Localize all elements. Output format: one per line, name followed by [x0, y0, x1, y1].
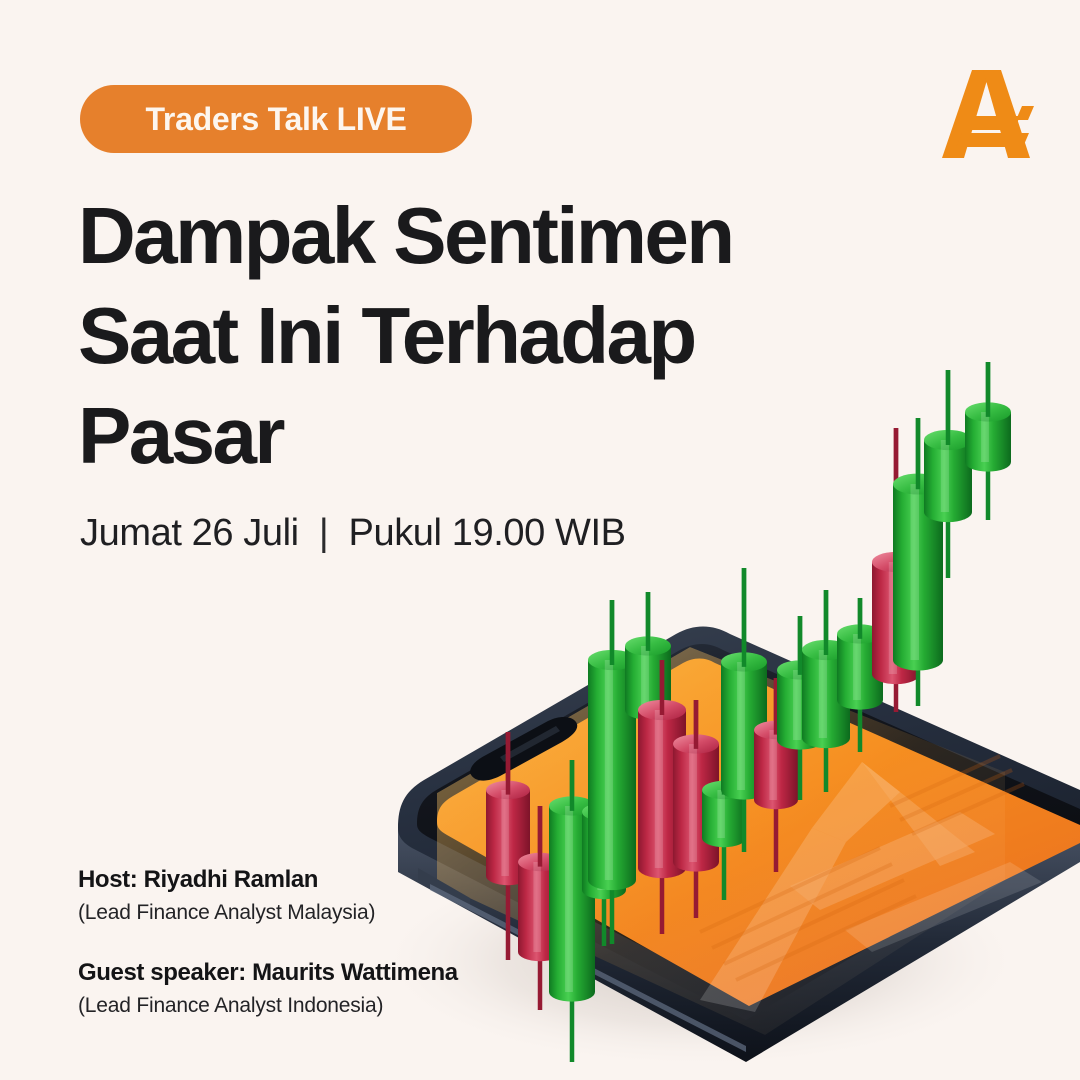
- candle-cap: [837, 624, 883, 643]
- candle-cap: [893, 474, 943, 495]
- headline-line-3: Pasar: [78, 396, 818, 476]
- candle-body: [638, 710, 686, 878]
- candlestick: [754, 678, 798, 872]
- candle-cap: [754, 721, 798, 739]
- candlestick: [777, 616, 823, 800]
- candlestick: [721, 568, 767, 852]
- candle-body: [924, 440, 972, 522]
- candlestick: [893, 418, 943, 706]
- candle-body: [754, 730, 798, 809]
- candle-highlight: [819, 650, 827, 738]
- candle-cap: [965, 402, 1011, 421]
- candle-cap: [549, 796, 595, 815]
- candle-highlight: [737, 662, 745, 790]
- host-role: (Lead Finance Analyst Malaysia): [78, 901, 548, 925]
- candle-cap: [638, 700, 686, 720]
- phone-earpiece: [500, 726, 560, 762]
- candle-body: [588, 660, 636, 890]
- event-time: Pukul 19.00 WIB: [349, 512, 626, 554]
- candle-highlight: [641, 646, 649, 710]
- candlestick: [582, 752, 626, 946]
- speakers-block: Host: Riyadhi Ramlan (Lead Finance Analy…: [78, 866, 548, 1052]
- screen-stripes: [700, 756, 1024, 980]
- event-date: Jumat 26 Juli: [80, 512, 299, 554]
- candle-body: [702, 790, 746, 847]
- candlestick: [965, 362, 1011, 520]
- candlestick: [549, 760, 595, 1062]
- letter-a-logo-icon: [934, 58, 1042, 168]
- headline-line-1: Dampak Sentimen: [78, 196, 818, 276]
- candle-body: [777, 670, 823, 750]
- candle-highlight: [769, 730, 776, 800]
- badge-label: Traders Talk LIVE: [145, 101, 406, 138]
- candlestick: [625, 592, 671, 780]
- candle-cap: [872, 552, 920, 572]
- candle-cap: [777, 660, 823, 679]
- headline-line-2: Saat Ini Terhadap: [78, 296, 818, 376]
- candle-highlight: [793, 670, 801, 740]
- candlestick: [588, 600, 636, 944]
- candle-cap: [582, 803, 626, 821]
- phone-notch: [470, 717, 577, 781]
- candle-highlight: [853, 634, 861, 700]
- candle-highlight: [689, 744, 697, 862]
- candle-body: [872, 562, 920, 684]
- candle-highlight: [717, 790, 724, 838]
- candle-cap: [802, 640, 850, 660]
- event-datetime: Jumat 26 Juli | Pukul 19.00 WIB: [80, 512, 626, 555]
- candlestick: [872, 428, 920, 712]
- poster-canvas: Traders Talk LIVE Dampak Sentimen Saat I…: [0, 0, 1080, 1080]
- candle-highlight: [941, 440, 949, 512]
- candlestick: [837, 598, 883, 752]
- candle-highlight: [655, 710, 663, 868]
- candlestick: [802, 590, 850, 792]
- candle-body: [625, 646, 671, 720]
- guest-entry: Guest speaker: Maurits Wattimena (Lead F…: [78, 959, 548, 1018]
- candle-body: [965, 412, 1011, 472]
- candlestick: [638, 660, 686, 934]
- candle-body: [802, 650, 850, 748]
- candle-highlight: [981, 412, 989, 462]
- candle-highlight: [605, 660, 613, 880]
- candle-cap: [588, 650, 636, 670]
- candle-body: [582, 812, 626, 899]
- candlestick: [924, 370, 972, 578]
- host-entry: Host: Riyadhi Ramlan (Lead Finance Analy…: [78, 866, 548, 925]
- candle-highlight: [889, 562, 897, 674]
- page-title: Dampak Sentimen Saat Ini Terhadap Pasar: [78, 196, 818, 496]
- candlestick: [702, 740, 746, 900]
- candle-cap: [625, 636, 671, 655]
- candle-highlight: [501, 790, 508, 876]
- candle-highlight: [911, 484, 920, 660]
- candle-body: [721, 662, 767, 800]
- screen-watermark-a-icon: [700, 762, 1042, 1012]
- candle-highlight: [565, 806, 573, 992]
- datetime-separator: |: [309, 512, 338, 555]
- traders-talk-live-badge[interactable]: Traders Talk LIVE: [80, 85, 472, 153]
- candle-cap: [673, 734, 719, 753]
- candle-body: [549, 806, 595, 1002]
- guest-name: Guest speaker: Maurits Wattimena: [78, 959, 548, 987]
- candle-body: [893, 484, 943, 671]
- host-name: Host: Riyadhi Ramlan: [78, 866, 548, 894]
- candle-cap: [924, 430, 972, 450]
- candle-highlight: [597, 812, 604, 890]
- candle-body: [837, 634, 883, 710]
- candle-cap: [486, 781, 530, 799]
- candle-cap: [721, 652, 767, 671]
- candlestick: [673, 700, 719, 918]
- candle-cap: [702, 781, 746, 799]
- guest-role: (Lead Finance Analyst Indonesia): [78, 994, 548, 1018]
- candle-body: [673, 744, 719, 872]
